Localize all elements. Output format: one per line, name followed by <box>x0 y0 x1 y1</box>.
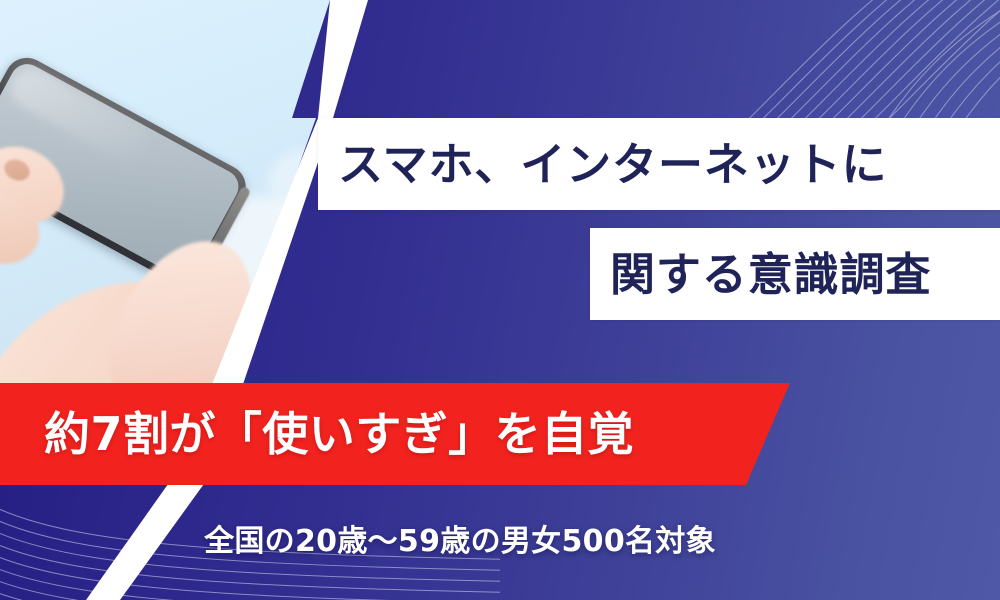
highlight-banner-text: 約7割が「使いすぎ」を自覚 <box>44 411 634 457</box>
highlight-banner: 約7割が「使いすぎ」を自覚 <box>0 383 800 485</box>
headline-line-1: スマホ、インターネットに <box>338 142 887 187</box>
headline-band-1: スマホ、インターネットに <box>318 118 1000 210</box>
subtitle: 全国の20歳〜59歳の男女500名対象 <box>0 516 1000 560</box>
poster-canvas: スマホ、インターネットに 関する意識調査 約7割が「使いすぎ」を自覚 全国の20… <box>0 0 1000 600</box>
headline-band-2: 関する意識調査 <box>590 228 1000 320</box>
headline-line-2: 関する意識調査 <box>610 252 931 297</box>
subtitle-text: 全国の20歳〜59歳の男女500名対象 <box>204 516 796 560</box>
